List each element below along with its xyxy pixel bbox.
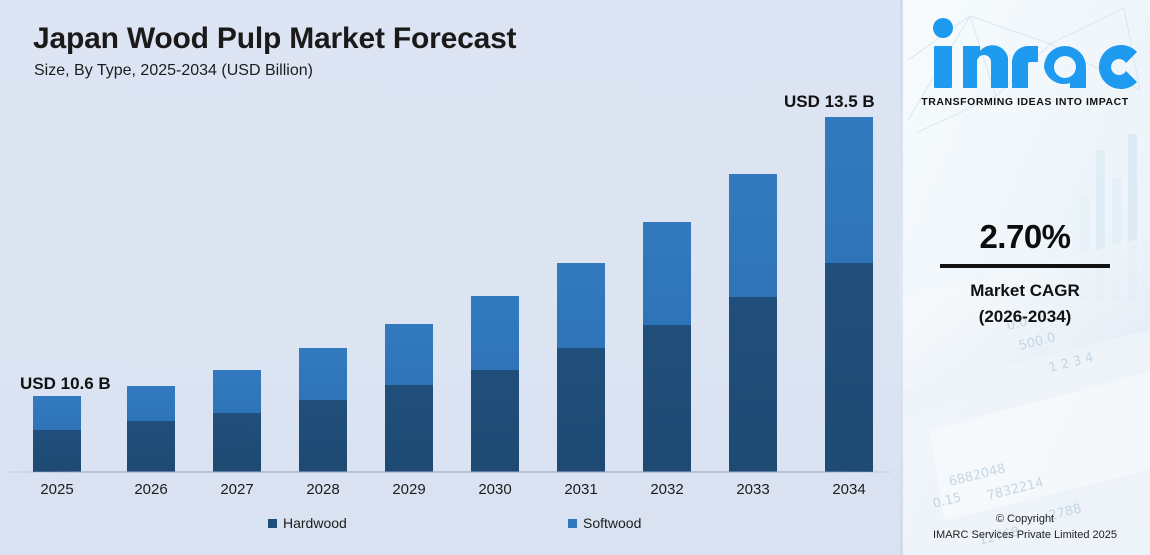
bar-stack bbox=[299, 348, 347, 472]
bar-segment-softwood[interactable] bbox=[213, 370, 261, 413]
value-callout-first: USD 10.6 B bbox=[20, 374, 111, 394]
bar-stack bbox=[213, 370, 261, 472]
bar-segment-softwood[interactable] bbox=[385, 324, 433, 385]
chart-legend: Hardwood Softwood bbox=[0, 515, 900, 539]
bar-stack bbox=[557, 263, 605, 472]
bar-segment-softwood[interactable] bbox=[557, 263, 605, 348]
copyright-line-2: IMARC Services Private Limited 2025 bbox=[900, 527, 1150, 543]
bar-segment-hardwood[interactable] bbox=[299, 400, 347, 472]
bar-segment-softwood[interactable] bbox=[33, 396, 81, 430]
bar-segment-hardwood[interactable] bbox=[643, 325, 691, 472]
bar-segment-hardwood[interactable] bbox=[729, 297, 777, 472]
plot-area bbox=[0, 100, 900, 472]
bar-segment-softwood[interactable] bbox=[825, 117, 873, 263]
x-tick-label-2033: 2033 bbox=[718, 481, 788, 498]
bar-stack bbox=[385, 324, 433, 472]
bar-segment-softwood[interactable] bbox=[729, 174, 777, 297]
cagr-divider bbox=[940, 264, 1110, 268]
bar-segment-softwood[interactable] bbox=[643, 222, 691, 325]
bar-stack bbox=[643, 222, 691, 472]
cagr-period: (2026-2034) bbox=[900, 304, 1150, 330]
bar-segment-hardwood[interactable] bbox=[385, 385, 433, 472]
bar-segment-hardwood[interactable] bbox=[127, 421, 175, 472]
value-callout-last: USD 13.5 B bbox=[784, 92, 875, 112]
logo-dot-icon bbox=[933, 18, 953, 38]
bar-stack bbox=[825, 117, 873, 472]
x-tick-label-2034: 2034 bbox=[814, 481, 884, 498]
bar-segment-hardwood[interactable] bbox=[213, 413, 261, 472]
page-title: Japan Wood Pulp Market Forecast bbox=[33, 22, 516, 56]
x-axis-line bbox=[8, 471, 892, 473]
infographic-root: Japan Wood Pulp Market Forecast Size, By… bbox=[0, 0, 1150, 555]
chart-panel: Japan Wood Pulp Market Forecast Size, By… bbox=[0, 0, 900, 555]
brand-side-panel: 500.0 1 2 3 4 0.0 0.15 7832214 6882048 1… bbox=[900, 0, 1150, 555]
bar-stack bbox=[729, 174, 777, 472]
copyright-line-1: © Copyright bbox=[900, 511, 1150, 527]
bar-segment-hardwood[interactable] bbox=[825, 263, 873, 472]
x-tick-label-2031: 2031 bbox=[546, 481, 616, 498]
legend-swatch-hardwood-icon bbox=[268, 519, 277, 528]
bar-stack bbox=[33, 396, 81, 472]
x-tick-label-2028: 2028 bbox=[288, 481, 358, 498]
legend-label-hardwood: Hardwood bbox=[283, 515, 347, 531]
bar-stack bbox=[471, 296, 519, 472]
imarc-wordmark-icon bbox=[913, 14, 1137, 90]
bar-segment-hardwood[interactable] bbox=[33, 430, 81, 472]
cagr-label: Market CAGR bbox=[900, 278, 1150, 304]
x-tick-label-2032: 2032 bbox=[632, 481, 702, 498]
bar-segment-hardwood[interactable] bbox=[471, 370, 519, 472]
legend-label-softwood: Softwood bbox=[583, 515, 641, 531]
bar-segment-softwood[interactable] bbox=[471, 296, 519, 370]
legend-item-softwood[interactable]: Softwood bbox=[568, 515, 641, 531]
bar-segment-softwood[interactable] bbox=[299, 348, 347, 400]
cagr-block: 2.70% Market CAGR (2026-2034) bbox=[900, 218, 1150, 330]
x-tick-label-2026: 2026 bbox=[116, 481, 186, 498]
copyright-block: © Copyright IMARC Services Private Limit… bbox=[900, 511, 1150, 543]
cagr-value: 2.70% bbox=[900, 218, 1150, 256]
legend-swatch-softwood-icon bbox=[568, 519, 577, 528]
x-tick-label-2027: 2027 bbox=[202, 481, 272, 498]
imarc-logo: TRANSFORMING IDEAS INTO IMPACT bbox=[900, 14, 1150, 108]
logo-tagline: TRANSFORMING IDEAS INTO IMPACT bbox=[900, 96, 1150, 108]
chart-subtitle: Size, By Type, 2025-2034 (USD Billion) bbox=[34, 62, 313, 80]
legend-item-hardwood[interactable]: Hardwood bbox=[268, 515, 347, 531]
x-tick-label-2029: 2029 bbox=[374, 481, 444, 498]
x-tick-label-2025: 2025 bbox=[22, 481, 92, 498]
x-tick-label-2030: 2030 bbox=[460, 481, 530, 498]
bar-segment-hardwood[interactable] bbox=[557, 348, 605, 472]
bar-segment-softwood[interactable] bbox=[127, 386, 175, 421]
bar-stack bbox=[127, 386, 175, 472]
